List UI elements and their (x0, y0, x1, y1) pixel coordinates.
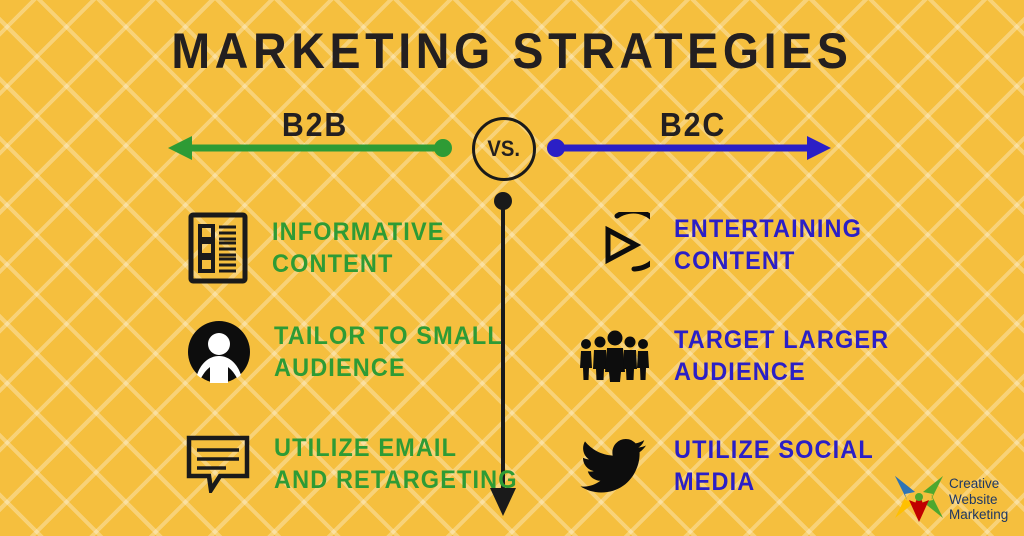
list-item-label: UTILIZE SOCIAL MEDIA (674, 434, 874, 498)
single-person-icon (188, 321, 250, 383)
list-item-label: UTILIZE EMAIL AND RETARGETING (274, 432, 518, 496)
speech-bubble-icon (186, 435, 250, 493)
logo-mark-icon (893, 470, 945, 529)
people-group-icon (578, 330, 650, 382)
twitter-bird-icon (578, 436, 650, 496)
infographic-content: MARKETING STRATEGIES B2B VS. B2C (0, 0, 1024, 536)
vs-badge: VS. (472, 117, 536, 181)
infographic-canvas: MARKETING STRATEGIES B2B VS. B2C (0, 0, 1024, 536)
logo-text: Creative Website Marketing (949, 476, 1008, 523)
list-item: UTILIZE SOCIAL MEDIA (578, 434, 887, 498)
list-item: TARGET LARGER AUDIENCE (578, 324, 903, 388)
b2c-arrow-right-icon (543, 132, 833, 169)
list-item-label: ENTERTAINING CONTENT (674, 213, 862, 277)
list-item-label: TARGET LARGER AUDIENCE (674, 324, 889, 388)
play-circle-icon (584, 212, 650, 278)
page-title: MARKETING STRATEGIES (36, 22, 988, 80)
logo[interactable]: Creative Website Marketing (893, 470, 1008, 529)
list-item-label: INFORMATIVE CONTENT (272, 216, 445, 280)
document-list-icon (188, 212, 248, 284)
list-item-label: TAILOR TO SMALL AUDIENCE (274, 320, 503, 384)
list-item: TAILOR TO SMALL AUDIENCE (188, 320, 517, 384)
list-item: ENTERTAINING CONTENT (584, 212, 874, 278)
list-item: INFORMATIVE CONTENT (188, 212, 456, 284)
list-item: UTILIZE EMAIL AND RETARGETING (186, 432, 533, 496)
b2b-arrow-left-icon (166, 132, 456, 169)
vs-label: VS. (488, 136, 521, 162)
